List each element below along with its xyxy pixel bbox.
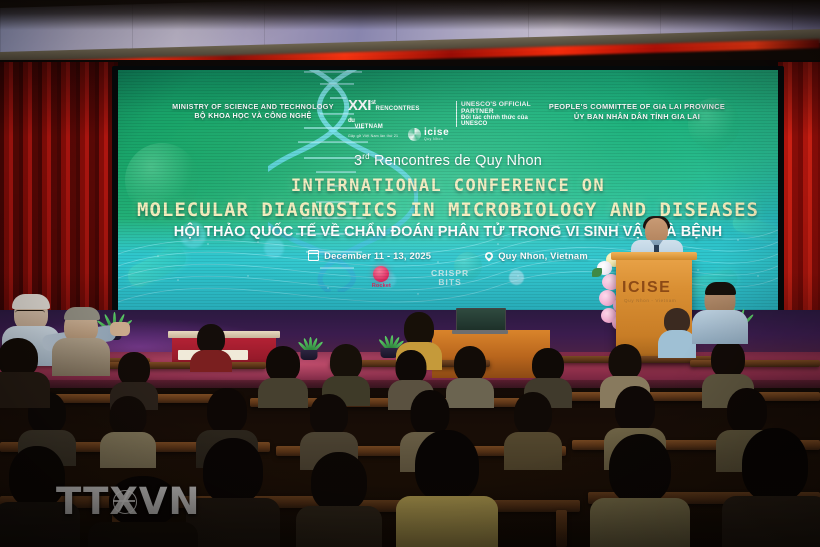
podium-logo-text: ICISE bbox=[622, 280, 688, 295]
audience-member bbox=[190, 324, 232, 370]
audience-member bbox=[590, 434, 690, 547]
audience-member bbox=[504, 392, 562, 466]
bench-post bbox=[556, 510, 567, 547]
bench-row bbox=[560, 392, 820, 401]
standing-attendee bbox=[692, 284, 748, 338]
man-hair bbox=[12, 294, 50, 309]
audience-member bbox=[186, 438, 280, 547]
globe-icon bbox=[113, 490, 137, 514]
audience-member bbox=[658, 308, 696, 356]
audience-member bbox=[100, 396, 156, 464]
man-hand bbox=[110, 322, 130, 336]
eyeglasses bbox=[15, 310, 45, 318]
ceiling-shadow bbox=[0, 0, 820, 30]
ttxvn-watermark: TTXVN bbox=[56, 480, 186, 528]
audience-member bbox=[396, 430, 498, 547]
conference-photo: MINISTRY OF SCIENCE AND TECHNOLOGY BỘ KH… bbox=[0, 0, 820, 547]
audience-member bbox=[296, 452, 382, 547]
front-row-person bbox=[0, 338, 50, 402]
audience-member bbox=[722, 428, 820, 547]
front-row-person bbox=[52, 310, 110, 370]
